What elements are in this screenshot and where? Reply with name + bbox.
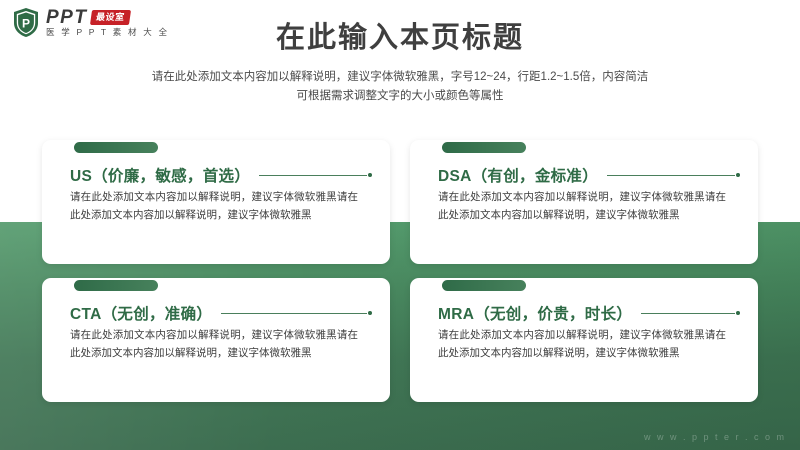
card-body-text: 请在此处添加文本内容加以解释说明，建议字体微软雅黑请在此处添加文本内容加以解释说…: [70, 188, 358, 224]
card-rule-dot-icon: [736, 173, 740, 177]
card-rule: [259, 173, 372, 177]
card-rule: [607, 173, 740, 177]
brand-logo[interactable]: P PPT 最设室 医 学 P P T 素 材 大 全: [12, 7, 169, 38]
card-rule-dot-icon: [368, 311, 372, 315]
brand-name-row: PPT 最设室: [46, 8, 169, 27]
card-body-text: 请在此处添加文本内容加以解释说明，建议字体微软雅黑请在此处添加文本内容加以解释说…: [438, 188, 726, 224]
slide-canvas: P PPT 最设室 医 学 P P T 素 材 大 全 在此输入本页标题 请在此…: [0, 0, 800, 450]
card-rule-dot-icon: [736, 311, 740, 315]
card-rule: [221, 311, 372, 315]
card-rule-line: [259, 175, 367, 176]
brand-text-block: PPT 最设室 医 学 P P T 素 材 大 全: [46, 8, 169, 37]
subtitle-line-2: 可根据需求调整文字的大小或颜色等属性: [0, 87, 800, 106]
card-accent-tab: [74, 142, 158, 153]
subtitle-line-1: 请在此处添加文本内容加以解释说明，建议字体微软雅黑，字号12~24，行距1.2~…: [0, 68, 800, 87]
svg-text:P: P: [22, 17, 30, 31]
card-header: DSA（有创，金标准）: [438, 164, 740, 186]
card-accent-tab: [74, 280, 158, 291]
card-title: DSA（有创，金标准）: [438, 164, 598, 186]
card-title: US（价廉，敏感，首选）: [70, 164, 250, 186]
card-rule: [641, 311, 740, 315]
content-card[interactable]: DSA（有创，金标准） 请在此处添加文本内容加以解释说明，建议字体微软雅黑请在此…: [410, 140, 758, 264]
card-rule-line: [607, 175, 735, 176]
site-watermark: w w w . p p t e r . c o m: [644, 432, 786, 442]
content-card[interactable]: CTA（无创，准确） 请在此处添加文本内容加以解释说明，建议字体微软雅黑请在此处…: [42, 278, 390, 402]
card-header: US（价廉，敏感，首选）: [70, 164, 372, 186]
content-card[interactable]: US（价廉，敏感，首选） 请在此处添加文本内容加以解释说明，建议字体微软雅黑请在…: [42, 140, 390, 264]
page-subtitle: 请在此处添加文本内容加以解释说明，建议字体微软雅黑，字号12~24，行距1.2~…: [0, 68, 800, 106]
card-accent-tab: [442, 142, 526, 153]
brand-name: PPT: [46, 8, 87, 27]
card-title: MRA（无创，价贵，时长）: [438, 302, 632, 324]
brand-badge: 最设室: [90, 10, 131, 25]
shield-p-icon: P: [12, 7, 40, 38]
card-rule-dot-icon: [368, 173, 372, 177]
card-rule-line: [221, 313, 367, 314]
card-accent-tab: [442, 280, 526, 291]
brand-tagline: 医 学 P P T 素 材 大 全: [46, 28, 169, 37]
content-card[interactable]: MRA（无创，价贵，时长） 请在此处添加文本内容加以解释说明，建议字体微软雅黑请…: [410, 278, 758, 402]
card-title: CTA（无创，准确）: [70, 302, 212, 324]
card-header: CTA（无创，准确）: [70, 302, 372, 324]
card-rule-line: [641, 313, 735, 314]
card-header: MRA（无创，价贵，时长）: [438, 302, 740, 324]
card-body-text: 请在此处添加文本内容加以解释说明，建议字体微软雅黑请在此处添加文本内容加以解释说…: [70, 326, 358, 362]
card-body-text: 请在此处添加文本内容加以解释说明，建议字体微软雅黑请在此处添加文本内容加以解释说…: [438, 326, 726, 362]
